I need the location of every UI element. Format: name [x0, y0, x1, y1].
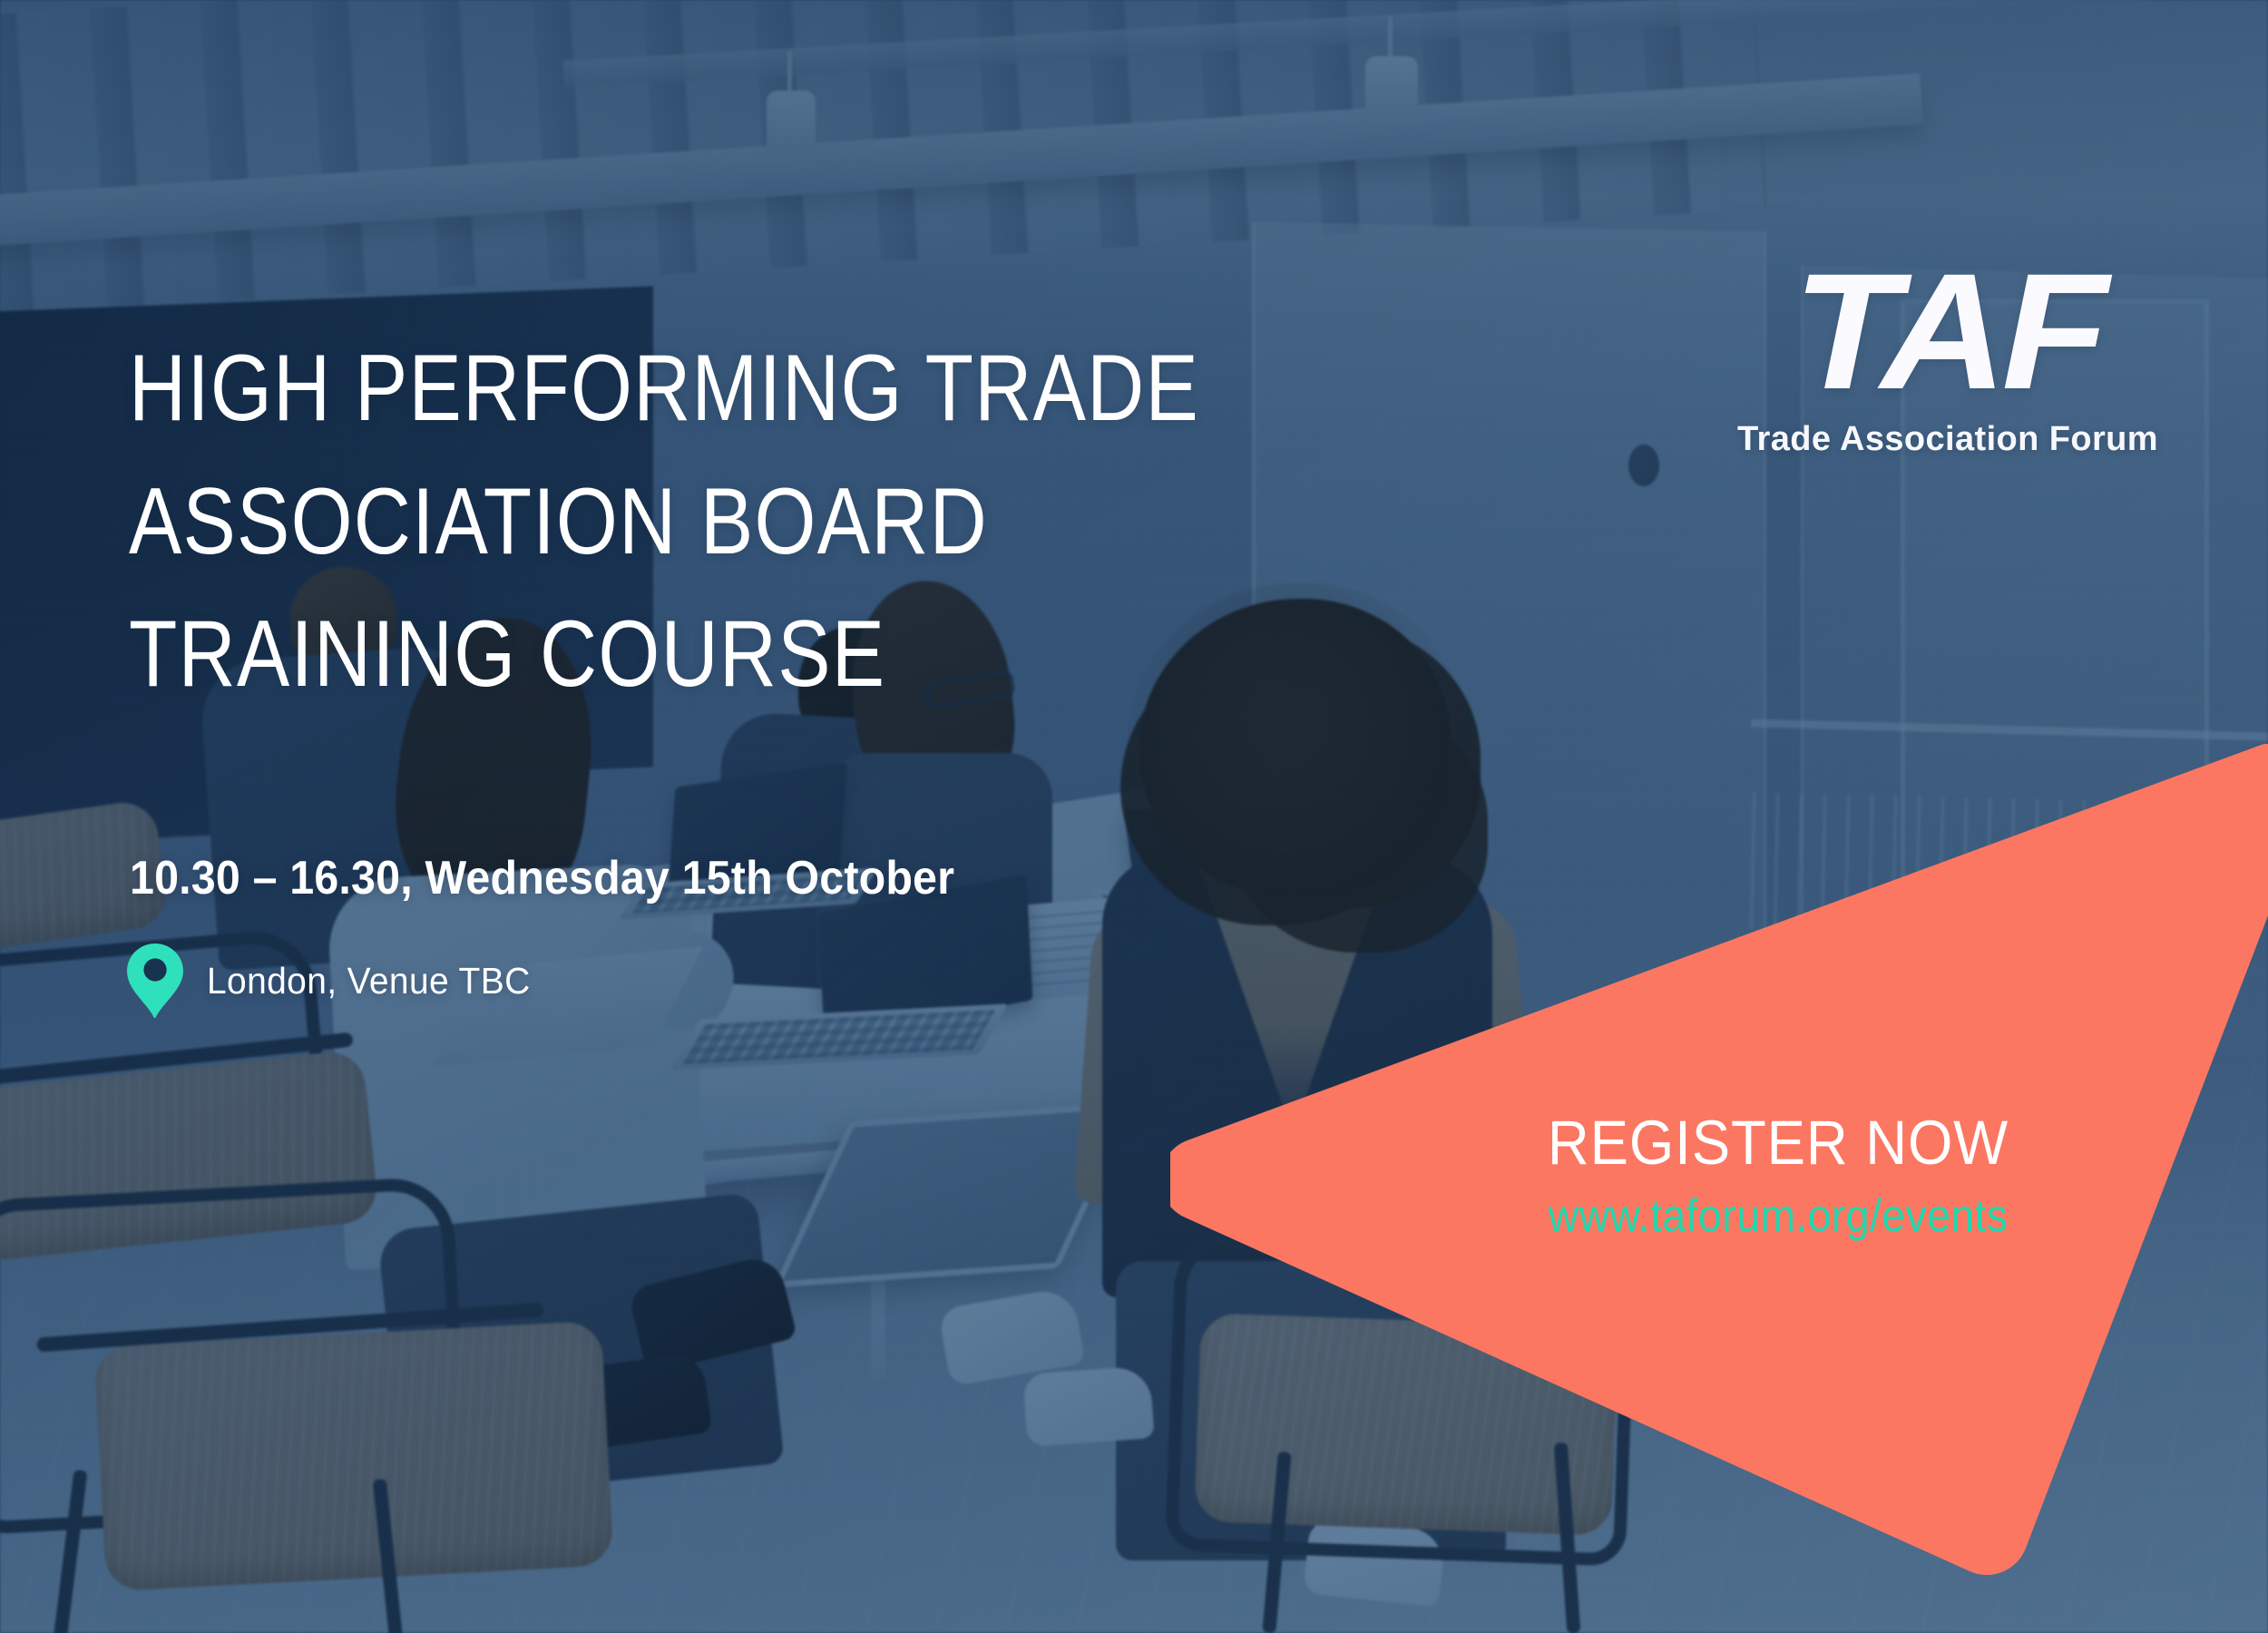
logo-subtitle: Trade Association Forum — [1735, 420, 2161, 459]
taf-logo: TAF Trade Association Forum — [1735, 254, 2161, 459]
headline-line-3: TRAINING COURSE — [129, 588, 1409, 721]
event-datetime: 10.30 – 16.30, Wednesday 15th October — [130, 851, 954, 905]
register-url-link[interactable]: www.taforum.org/events — [1466, 1189, 2090, 1242]
headline-line-1: HIGH PERFORMING TRADE — [129, 322, 1409, 455]
event-poster: HIGH PERFORMING TRADE ASSOCIATION BOARD … — [0, 0, 2268, 1633]
cta-text-block: REGISTER NOW www.taforum.org/events — [1442, 1107, 2114, 1242]
headline-line-2: ASSOCIATION BOARD — [129, 455, 1409, 589]
venue-label: London, Venue TBC — [207, 960, 531, 1002]
register-cta[interactable]: REGISTER NOW www.taforum.org/events — [1170, 744, 2268, 1588]
logo-wordmark: TAF — [1722, 254, 2174, 409]
register-now-label[interactable]: REGISTER NOW — [1470, 1107, 2087, 1178]
map-pin-icon — [127, 944, 183, 1018]
event-venue: London, Venue TBC — [127, 944, 547, 1018]
page-title: HIGH PERFORMING TRADE ASSOCIATION BOARD … — [129, 322, 1409, 721]
